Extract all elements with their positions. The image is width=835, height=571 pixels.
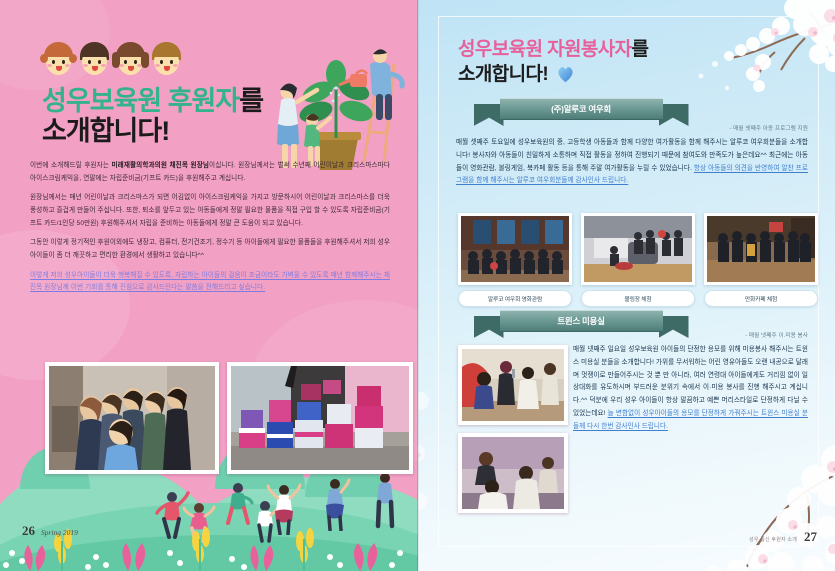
donor-name-highlight: 미래재활의학과의원 채진목 원장님 — [112, 162, 210, 169]
page-number-right: 27 — [804, 529, 817, 545]
kid-face-3 — [114, 42, 147, 78]
season-label-left: Spring 2019 — [41, 528, 78, 537]
kid-face-2 — [78, 42, 111, 78]
left-page-headline: 성우보육원 후원자를 소개합니다! — [42, 86, 263, 146]
kid-face-4 — [150, 42, 183, 78]
footer-note-right: 성우 통신 후원자 소개 — [749, 536, 797, 543]
page-gutter — [417, 0, 419, 571]
movie-outing-photo[interactable] — [458, 213, 572, 285]
haircut-photo-1[interactable] — [458, 345, 568, 425]
ribbon-label-aluko: (주)알루코 여우회 — [551, 103, 611, 115]
right-page-headline: 성우보육원 자원봉사자를 소개합니다! — [458, 38, 648, 87]
body-twins-main: 매월 넷째주 일요일 성우보육원 아이들의 단정한 용모를 위해 미용봉사 해주… — [573, 346, 808, 417]
section-aluko-ribbon-wrap: (주)알루코 여우회 — [456, 96, 706, 126]
ribbon-label-twins: 트윈스 미용실 — [557, 315, 604, 327]
left-page-body: 이번에 소개해드릴 후원자는 미래재활의학과의원 채진목 원장님이십니다. 원장… — [30, 160, 390, 302]
photo-card-comic-cafe[interactable]: 만화카페 체험 — [704, 213, 818, 307]
aluko-photo-row: 알루코 여우회 영화관람 — [458, 213, 818, 307]
right-headline-accent: 성우보육원 자원봉사자 — [458, 39, 631, 60]
right-headline-tail: 를 — [631, 39, 648, 60]
photo-card-movie[interactable]: 알루코 여우회 영화관람 — [458, 213, 572, 307]
right-headline-line2: 소개합니다! — [458, 64, 548, 85]
caption-movie: 알루코 여우회 영화관람 — [458, 290, 572, 307]
caption-comic-cafe: 만화카페 체험 — [704, 290, 818, 307]
sub-note-aluko: - 매월 셋째주 아동 프로그램 지원 — [456, 124, 808, 132]
sub-note-twins: - 매월 넷째주 이.미용 봉사 — [573, 331, 808, 339]
caption-bowling: 볼링장 체험 — [581, 290, 695, 307]
paragraph-1: 이번에 소개해드릴 후원자는 미래재활의학과의원 채진목 원장님이십니다. 원장… — [30, 160, 390, 185]
haircut-photo-2[interactable] — [458, 433, 568, 513]
headline-line2: 소개합니다! — [42, 116, 263, 146]
page-number-left: 26 — [22, 523, 35, 539]
photo-card-bowling[interactable]: 볼링장 체험 — [581, 213, 695, 307]
body-twins: 매월 넷째주 일요일 성우보육원 아이들의 단정한 용모를 위해 미용봉사 해주… — [573, 344, 808, 433]
left-page-photos — [45, 362, 413, 474]
section-twins-text: - 매월 넷째주 이.미용 봉사 매월 넷째주 일요일 성우보육원 아이들의 단… — [573, 331, 808, 433]
gift-boxes-photo[interactable] — [227, 362, 413, 474]
magazine-spread: 성우보육원 후원자를 소개합니다! — [0, 0, 835, 571]
twins-photo-column — [458, 345, 568, 513]
section-aluko-text: - 매월 셋째주 아동 프로그램 지원 매월 셋째주 토요일에 성우보육원의 중… — [456, 124, 808, 188]
headline-accent-text: 성우보육원 후원자 — [42, 86, 239, 116]
paragraph-4-thanks-note: 이렇게 저희 성우아이들이 더욱 행복해질 수 있도록, 자립하는 아이들의 걸… — [30, 270, 390, 295]
ribbon-banner-aluko: (주)알루코 여우회 — [474, 96, 689, 126]
bowling-photo[interactable] — [581, 213, 695, 285]
person-playing-7 — [368, 471, 402, 529]
comic-cafe-photo[interactable] — [704, 213, 818, 285]
kid-face-1 — [42, 42, 75, 78]
donor-group-photo[interactable] — [45, 362, 219, 474]
paragraph-2: 원장님께서는 매년 어린이날과 크리스마스가 되면 어김없이 아이스크림케익을 … — [30, 192, 390, 230]
paragraph-3: 그동안 이렇게 정기적인 후원이외에도 냉장고, 컴퓨터, 전기건조기, 정수기… — [30, 237, 390, 262]
headline-tail-text: 를 — [239, 86, 263, 116]
body-aluko: 매월 셋째주 토요일에 성우보육원의 중, 고등학생 아동들과 함께 다양한 여… — [456, 137, 808, 188]
family-watering-plant-illustration — [252, 34, 412, 174]
blue-heart-icon — [556, 66, 575, 83]
body-twins-link: 늘 변함없이 성우아이들의 용모를 단정하게 가꿔주시는 트윈스 미용실 분들께… — [573, 410, 808, 430]
left-page-footer: 26 Spring 2019 — [22, 523, 78, 539]
kids-faces-illustration — [42, 42, 183, 78]
left-page: 성우보육원 후원자를 소개합니다! — [0, 0, 418, 571]
right-page: 성우보육원 자원봉사자를 소개합니다! (주)알루코 여우회 — [418, 0, 835, 571]
right-page-footer: 성우 통신 후원자 소개 27 — [749, 529, 817, 545]
